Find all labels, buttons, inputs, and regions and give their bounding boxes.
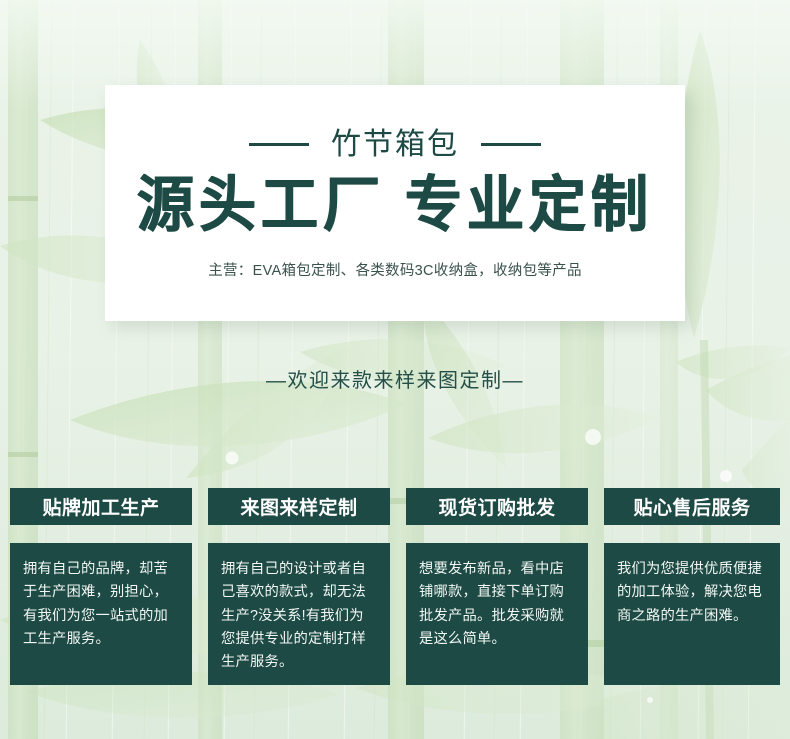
feature-card-title: 贴心售后服务 [633, 493, 750, 520]
feature-card-title: 贴牌加工生产 [42, 493, 159, 520]
feature-card-title: 现货订购批发 [438, 493, 555, 520]
feature-card-description: 我们为您提供优质便捷的加工体验，解决您电商之路的生产困难。 [617, 558, 767, 628]
feature-card-body: 拥有自己的设计或者自己喜欢的款式，却无法生产?没关系!有我们为您提供专业的定制打… [208, 543, 390, 685]
feature-card-title: 来图来样定制 [240, 493, 357, 520]
feature-card-description: 想要发布新品，看中店铺哪款，直接下单订购批发产品。批发采购就是这么简单。 [419, 558, 575, 651]
feature-card-header: 现货订购批发 [406, 488, 588, 525]
feature-card-after-sales[interactable]: 贴心售后服务 我们为您提供优质便捷的加工体验，解决您电商之路的生产困难。 [604, 488, 780, 685]
feature-card-header: 贴牌加工生产 [10, 488, 192, 525]
feature-card-oem-production[interactable]: 贴牌加工生产 拥有自己的品牌，却苦于生产困难，别担心，有我们为您一站式的加工生产… [10, 488, 192, 685]
feature-card-description: 拥有自己的品牌，却苦于生产困难，别担心，有我们为您一站式的加工生产服务。 [23, 558, 179, 651]
feature-card-row: 贴牌加工生产 拥有自己的品牌，却苦于生产困难，别担心，有我们为您一站式的加工生产… [0, 0, 790, 739]
feature-card-header: 来图来样定制 [208, 488, 390, 525]
feature-card-custom-design[interactable]: 来图来样定制 拥有自己的设计或者自己喜欢的款式，却无法生产?没关系!有我们为您提… [208, 488, 390, 685]
feature-card-stock-wholesale[interactable]: 现货订购批发 想要发布新品，看中店铺哪款，直接下单订购批发产品。批发采购就是这么… [406, 488, 588, 685]
feature-card-header: 贴心售后服务 [604, 488, 780, 525]
feature-card-description: 拥有自己的设计或者自己喜欢的款式，却无法生产?没关系!有我们为您提供专业的定制打… [221, 558, 377, 674]
feature-card-body: 想要发布新品，看中店铺哪款，直接下单订购批发产品。批发采购就是这么简单。 [406, 543, 588, 685]
feature-card-body: 拥有自己的品牌，却苦于生产困难，别担心，有我们为您一站式的加工生产服务。 [10, 543, 192, 685]
feature-card-body: 我们为您提供优质便捷的加工体验，解决您电商之路的生产困难。 [604, 543, 780, 685]
